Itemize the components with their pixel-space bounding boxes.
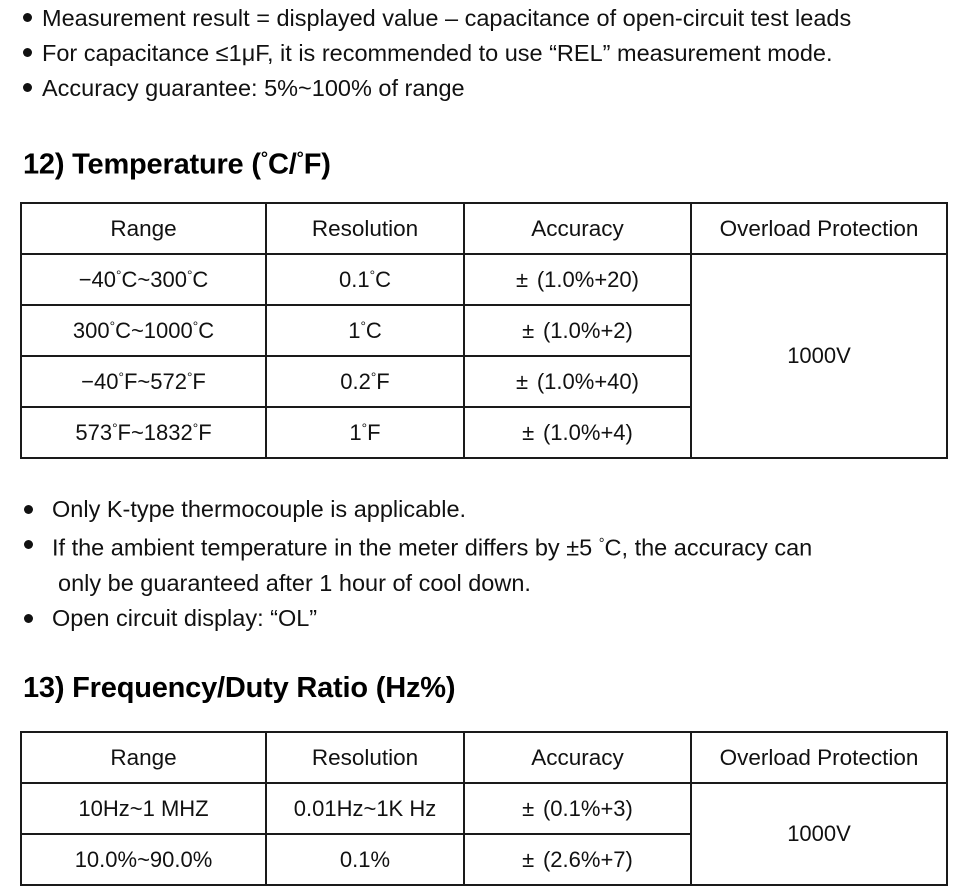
bullet-dot-icon — [24, 614, 33, 623]
cell-overload-protection: 1000V — [691, 783, 947, 885]
table-row: 10Hz~1 MHZ 0.01Hz~1K Hz ± (0.1%+3) 1000V — [21, 783, 947, 834]
list-item: Accuracy guarantee: 5%~100% of range — [23, 71, 971, 106]
cell-range: −40°F~572°F — [21, 356, 266, 407]
list-item-label: Measurement result = displayed value – c… — [42, 1, 971, 36]
cell-range: −40°C~300°C — [21, 254, 266, 305]
cell-accuracy: ± (2.6%+7) — [464, 834, 691, 885]
cell-resolution: 0.2°F — [266, 356, 464, 407]
cell-accuracy: ± (1.0%+40) — [464, 356, 691, 407]
cell-overload-protection: 1000V — [691, 254, 947, 458]
bullet-dot-icon — [23, 13, 32, 22]
capacitance-notes-list: Measurement result = displayed value – c… — [23, 1, 971, 106]
cell-resolution: 0.1% — [266, 834, 464, 885]
column-header-overload-protection: Overload Protection — [691, 732, 947, 783]
section-heading-frequency: 13) Frequency/Duty Ratio (Hz%) — [23, 672, 455, 705]
list-item-label: Open circuit display: “OL” — [52, 601, 964, 636]
temperature-spec-table: Range Resolution Accuracy Overload Prote… — [20, 202, 948, 459]
cell-accuracy: ± (1.0%+20) — [464, 254, 691, 305]
column-header-resolution: Resolution — [266, 203, 464, 254]
list-item-label: If the ambient temperature in the meter … — [52, 527, 964, 566]
cell-range: 300°C~1000°C — [21, 305, 266, 356]
cell-accuracy: ± (1.0%+4) — [464, 407, 691, 458]
list-item: Open circuit display: “OL” — [24, 601, 964, 636]
section-heading-temperature: 12) Temperature (°C/°F) — [23, 148, 331, 181]
table-row: −40°C~300°C 0.1°C ± (1.0%+20) 1000V — [21, 254, 947, 305]
cell-resolution: 1°C — [266, 305, 464, 356]
temperature-notes-list: Only K-type thermocouple is applicable. … — [24, 492, 964, 636]
table-header-row: Range Resolution Accuracy Overload Prote… — [21, 732, 947, 783]
column-header-range: Range — [21, 732, 266, 783]
cell-accuracy: ± (1.0%+2) — [464, 305, 691, 356]
cell-resolution: 0.1°C — [266, 254, 464, 305]
column-header-resolution: Resolution — [266, 732, 464, 783]
cell-range: 10.0%~90.0% — [21, 834, 266, 885]
list-item: Only K-type thermocouple is applicable. — [24, 492, 964, 527]
column-header-accuracy: Accuracy — [464, 203, 691, 254]
column-header-overload-protection: Overload Protection — [691, 203, 947, 254]
cell-range: 10Hz~1 MHZ — [21, 783, 266, 834]
column-header-range: Range — [21, 203, 266, 254]
cell-accuracy: ± (0.1%+3) — [464, 783, 691, 834]
bullet-dot-icon — [24, 540, 33, 549]
table-header-row: Range Resolution Accuracy Overload Prote… — [21, 203, 947, 254]
list-item-label-continued: only be guaranteed after 1 hour of cool … — [52, 566, 964, 601]
list-item: If the ambient temperature in the meter … — [24, 527, 964, 601]
bullet-dot-icon — [23, 83, 32, 92]
cell-range: 573°F~1832°F — [21, 407, 266, 458]
bullet-dot-icon — [23, 48, 32, 57]
column-header-accuracy: Accuracy — [464, 732, 691, 783]
frequency-spec-table: Range Resolution Accuracy Overload Prote… — [20, 731, 948, 886]
list-item-label: For capacitance ≤1μF, it is recommended … — [42, 36, 971, 71]
cell-resolution: 0.01Hz~1K Hz — [266, 783, 464, 834]
list-item: For capacitance ≤1μF, it is recommended … — [23, 36, 971, 71]
list-item-label: Only K-type thermocouple is applicable. — [52, 492, 964, 527]
bullet-dot-icon — [24, 505, 33, 514]
cell-resolution: 1°F — [266, 407, 464, 458]
list-item: Measurement result = displayed value – c… — [23, 1, 971, 36]
list-item-label: Accuracy guarantee: 5%~100% of range — [42, 71, 971, 106]
